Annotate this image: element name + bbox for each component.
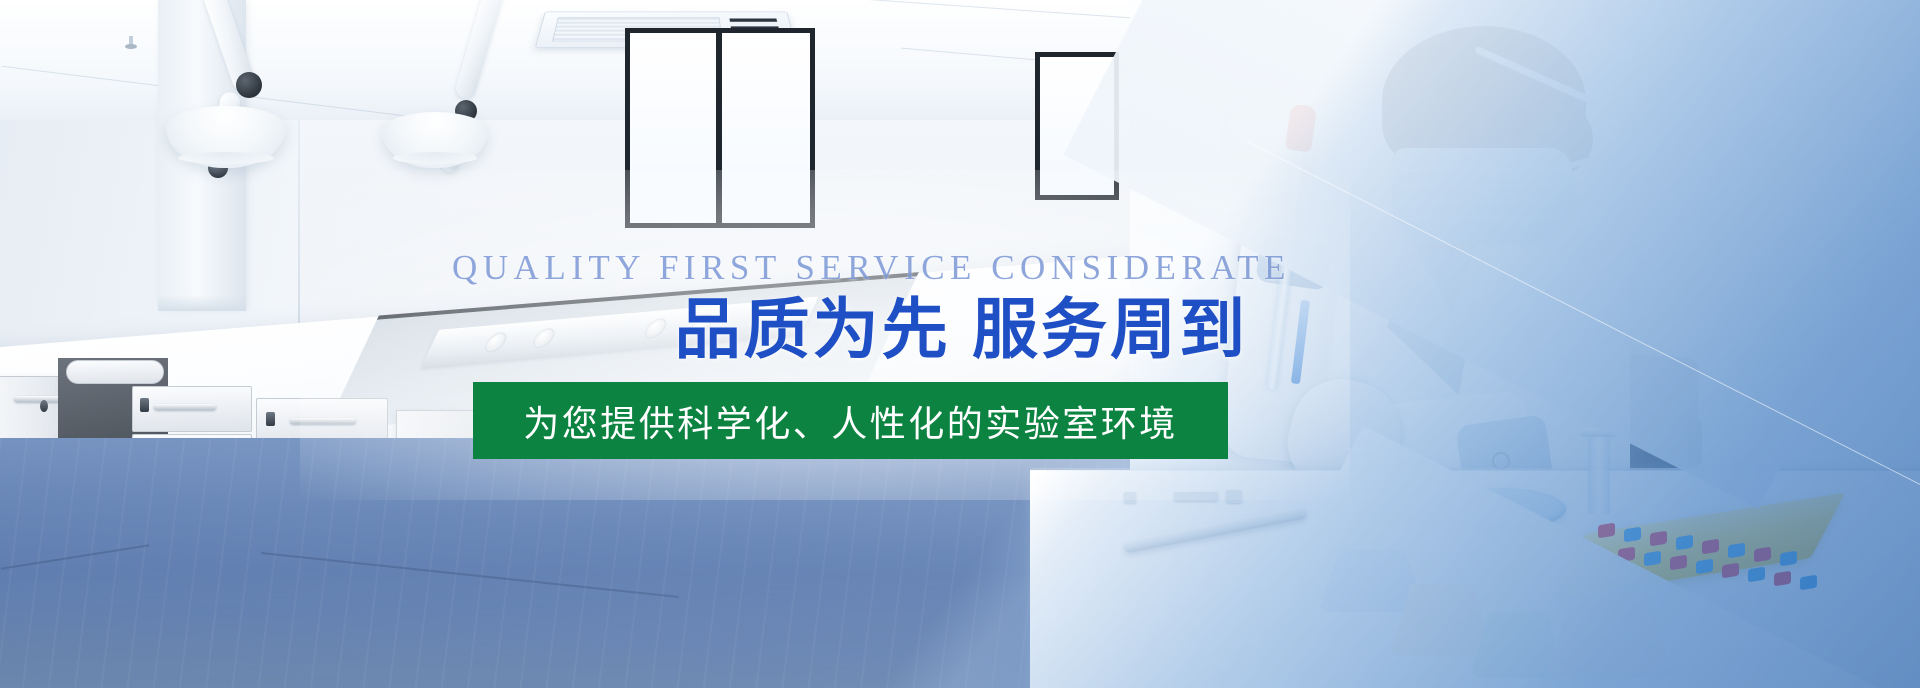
- lab-window: [625, 28, 815, 228]
- hero-banner: QUALITY FIRST SERVICE CONSIDERATE 品质为先 服…: [0, 0, 1920, 688]
- test-tube-cap: [1650, 531, 1667, 547]
- drawer-handle: [154, 404, 216, 410]
- drawer-handle: [290, 418, 356, 424]
- desk-edge: [1030, 468, 1920, 471]
- flask-neck: [1588, 434, 1610, 514]
- desk-chip: [1174, 492, 1218, 501]
- fume-hood-dome: [166, 106, 286, 168]
- test-tube-cap: [1670, 555, 1687, 571]
- desk-chip: [1124, 492, 1136, 503]
- test-tube-cap: [1624, 527, 1641, 543]
- test-tube-cap: [1644, 551, 1661, 567]
- test-tube-cap: [1676, 535, 1693, 551]
- test-tube-cap: [1728, 543, 1745, 559]
- test-tube-cap: [1754, 547, 1771, 563]
- banner-headline: 品质为先 服务周到: [0, 294, 1248, 365]
- test-tube-cap: [1800, 575, 1817, 591]
- test-tube-cap: [1598, 523, 1615, 539]
- banner-tagline-text: 为您提供科学化、人性化的实验室环境: [523, 395, 1178, 447]
- banner-tagline-bar: 为您提供科学化、人性化的实验室环境: [473, 382, 1228, 459]
- test-tube-cap: [1702, 539, 1719, 555]
- test-tube-cap: [1774, 571, 1791, 587]
- drawer-lock-icon: [266, 412, 275, 426]
- fume-hood-dome: [382, 112, 488, 168]
- banner-eyebrow-text: QUALITY FIRST SERVICE CONSIDERATE: [452, 248, 1252, 288]
- desk-chip: [1226, 490, 1242, 503]
- test-tube-cap: [1748, 567, 1765, 583]
- cabinet-handle: [14, 396, 60, 402]
- drawer-lock-icon: [140, 398, 149, 412]
- sprinkler-head-icon: [125, 36, 137, 50]
- test-tube-cap: [1696, 559, 1713, 575]
- test-tube-cap: [1780, 551, 1797, 567]
- cabinet-lock-icon: [40, 400, 48, 412]
- fume-arm-joint-icon: [236, 72, 262, 98]
- test-tube-cap: [1722, 563, 1739, 579]
